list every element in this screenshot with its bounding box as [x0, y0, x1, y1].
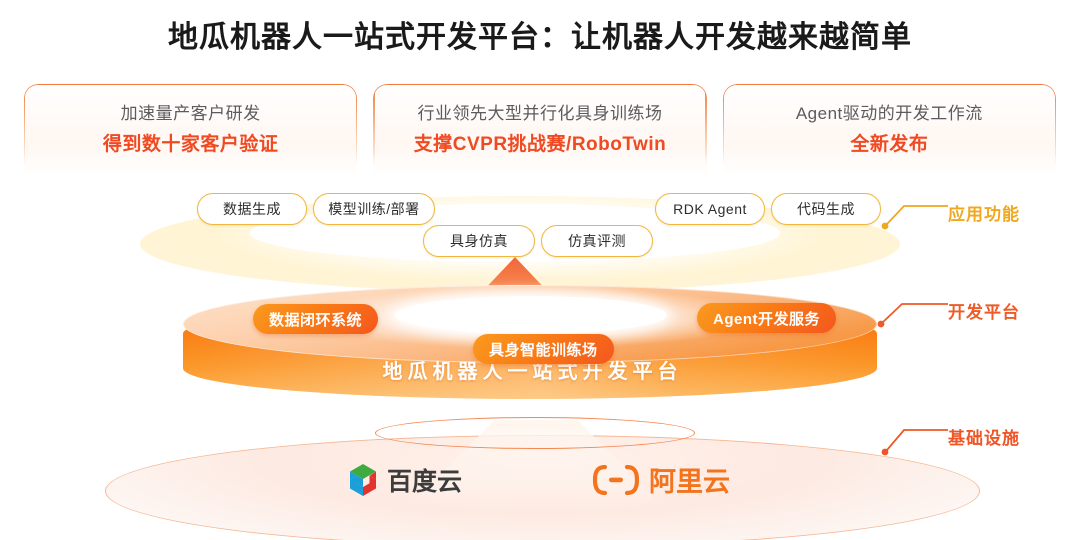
card-headline: 全新发布 — [723, 129, 1056, 156]
platform-chip-agent-service[interactable]: Agent开发服务 — [697, 303, 836, 333]
app-pill-code-generation[interactable]: 代码生成 — [771, 193, 881, 225]
infographic-root: 地瓜机器人一站式开发平台：让机器人开发越来越简单 加速量产客户研发 得到数十家客… — [0, 0, 1080, 540]
app-pill-rdk-agent[interactable]: RDK Agent — [655, 193, 765, 225]
callout-infrastructure: 基础设施 — [948, 424, 1020, 449]
baidu-cloud-logo: 百度云 — [348, 462, 462, 498]
platform-chip-data-loop[interactable]: 数据闭环系统 — [253, 304, 378, 334]
app-pill-embodied-simulation[interactable]: 具身仿真 — [423, 225, 535, 257]
card-headline: 得到数十家客户验证 — [24, 129, 357, 156]
highlight-card: 加速量产客户研发 得到数十家客户验证 — [24, 84, 357, 176]
page-title: 地瓜机器人一站式开发平台：让机器人开发越来越简单 — [0, 12, 1080, 56]
aliyun-bracket-icon — [592, 465, 640, 495]
card-headline: 支撑CVPR挑战赛/RoboTwin — [373, 129, 706, 156]
callout-development-platform: 开发平台 — [948, 298, 1020, 323]
highlight-cards: 加速量产客户研发 得到数十家客户验证 行业领先大型并行化具身训练场 支撑CVPR… — [24, 84, 1056, 176]
card-subtitle: Agent驱动的开发工作流 — [723, 99, 1056, 124]
app-pill-model-training-deploy[interactable]: 模型训练/部署 — [313, 193, 435, 225]
platform-chip-training-field[interactable]: 具身智能训练场 — [473, 334, 614, 364]
card-subtitle: 加速量产客户研发 — [24, 99, 357, 124]
base-ring-outline — [375, 417, 695, 449]
card-subtitle: 行业领先大型并行化具身训练场 — [373, 99, 706, 124]
app-pill-simulation-evaluation[interactable]: 仿真评测 — [541, 225, 653, 257]
leader-line-infrastructure — [880, 420, 950, 458]
baidu-cube-icon — [348, 463, 378, 497]
disc-center-hole — [395, 296, 667, 334]
leader-line-application — [880, 196, 950, 232]
baidu-cloud-label: 百度云 — [387, 462, 462, 498]
callout-application-functions: 应用功能 — [948, 200, 1020, 225]
highlight-card: 行业领先大型并行化具身训练场 支撑CVPR挑战赛/RoboTwin — [373, 84, 706, 176]
leader-line-platform — [876, 294, 950, 330]
aliyun-logo: 阿里云 — [592, 460, 730, 499]
app-pill-data-generation[interactable]: 数据生成 — [197, 193, 307, 225]
highlight-card: Agent驱动的开发工作流 全新发布 — [723, 84, 1056, 176]
aliyun-label: 阿里云 — [649, 460, 730, 499]
